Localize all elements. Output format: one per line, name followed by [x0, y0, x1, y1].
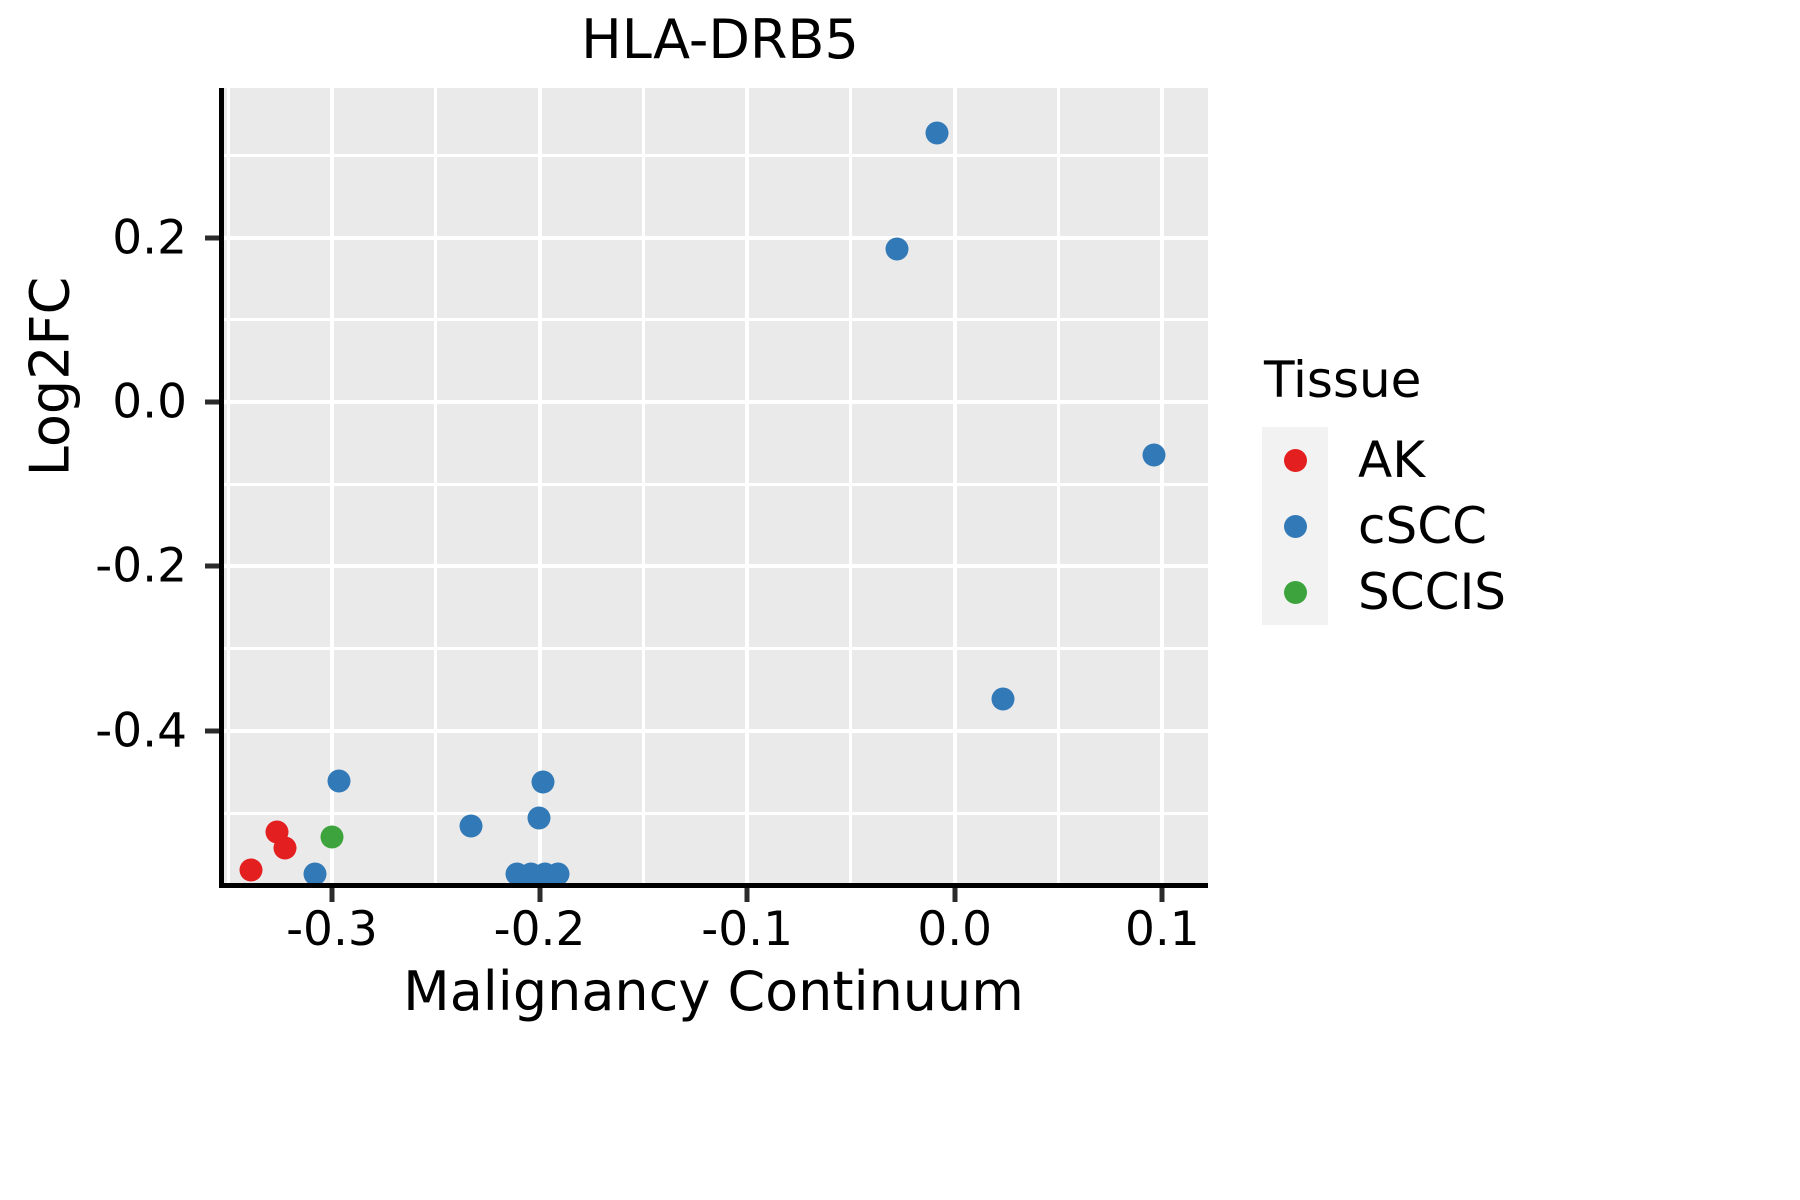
legend-key-swatch	[1262, 493, 1328, 559]
gridline-major-vertical	[1160, 88, 1164, 883]
legend-dot-icon	[1284, 581, 1307, 604]
x-tick-mark	[952, 888, 957, 902]
data-point-cscc	[547, 862, 570, 883]
legend-item-cscc[interactable]: cSCC	[1262, 493, 1682, 559]
x-tick-label: -0.1	[701, 902, 793, 957]
gridline-major-horizontal	[224, 400, 1208, 404]
gridline-minor-horizontal	[224, 647, 1208, 650]
gridline-major-horizontal	[224, 564, 1208, 568]
y-tick-mark	[205, 400, 219, 405]
data-point-cscc	[328, 770, 351, 793]
gridline-minor-horizontal	[224, 154, 1208, 157]
x-axis-title: Malignancy Continuum	[219, 960, 1208, 1023]
plot-area	[224, 88, 1208, 883]
data-point-cscc	[1143, 443, 1166, 466]
data-point-ak	[274, 837, 297, 860]
legend-item-ak[interactable]: AK	[1262, 427, 1682, 493]
gridline-major-horizontal	[224, 729, 1208, 733]
gridline-minor-horizontal	[224, 483, 1208, 486]
x-tick-mark	[329, 888, 334, 902]
legend-title: Tissue	[1264, 355, 1682, 405]
gridline-major-vertical	[953, 88, 957, 883]
legend-item-label: SCCIS	[1358, 567, 1506, 617]
gridline-major-horizontal	[224, 236, 1208, 240]
data-point-cscc	[303, 862, 326, 883]
y-axis-title: Log2FC	[19, 167, 82, 587]
x-tick-label: 0.0	[917, 902, 992, 957]
legend-dot-icon	[1284, 515, 1307, 538]
data-point-ak	[239, 858, 262, 881]
data-point-cscc	[991, 688, 1014, 711]
y-tick-mark	[205, 564, 219, 569]
data-point-cscc	[925, 121, 948, 144]
data-point-cscc	[885, 237, 908, 260]
x-tick-mark	[537, 888, 542, 902]
plot-panel	[219, 88, 1208, 888]
data-point-sccis	[320, 825, 343, 848]
x-tick-label: 0.1	[1125, 902, 1200, 957]
data-point-cscc	[532, 771, 555, 794]
y-tick-label: -0.4	[95, 703, 187, 758]
data-point-cscc	[527, 806, 550, 829]
y-tick-label: 0.0	[112, 375, 187, 430]
gridline-major-vertical	[538, 88, 542, 883]
y-tick-mark	[205, 728, 219, 733]
gridline-minor-horizontal	[224, 318, 1208, 321]
y-tick-label: -0.2	[95, 539, 187, 594]
y-tick-label: 0.2	[112, 210, 187, 265]
x-tick-label: -0.2	[494, 902, 586, 957]
legend: Tissue AKcSCCSCCIS	[1262, 355, 1682, 625]
chart-root: HLA-DRB5 Log2FC Malignancy Continuum 0.2…	[0, 0, 1800, 1200]
y-tick-mark	[205, 235, 219, 240]
legend-dot-icon	[1284, 449, 1307, 472]
x-tick-label: -0.3	[286, 902, 378, 957]
legend-item-label: cSCC	[1358, 501, 1487, 551]
legend-items: AKcSCCSCCIS	[1262, 427, 1682, 625]
x-tick-mark	[745, 888, 750, 902]
legend-key-swatch	[1262, 427, 1328, 493]
gridline-minor-horizontal	[224, 812, 1208, 815]
data-point-cscc	[459, 814, 482, 837]
legend-key-swatch	[1262, 559, 1328, 625]
gridline-major-vertical	[330, 88, 334, 883]
x-tick-mark	[1160, 888, 1165, 902]
chart-title: HLA-DRB5	[0, 8, 1440, 71]
gridline-major-vertical	[745, 88, 749, 883]
legend-item-sccis[interactable]: SCCIS	[1262, 559, 1682, 625]
legend-item-label: AK	[1358, 435, 1425, 485]
